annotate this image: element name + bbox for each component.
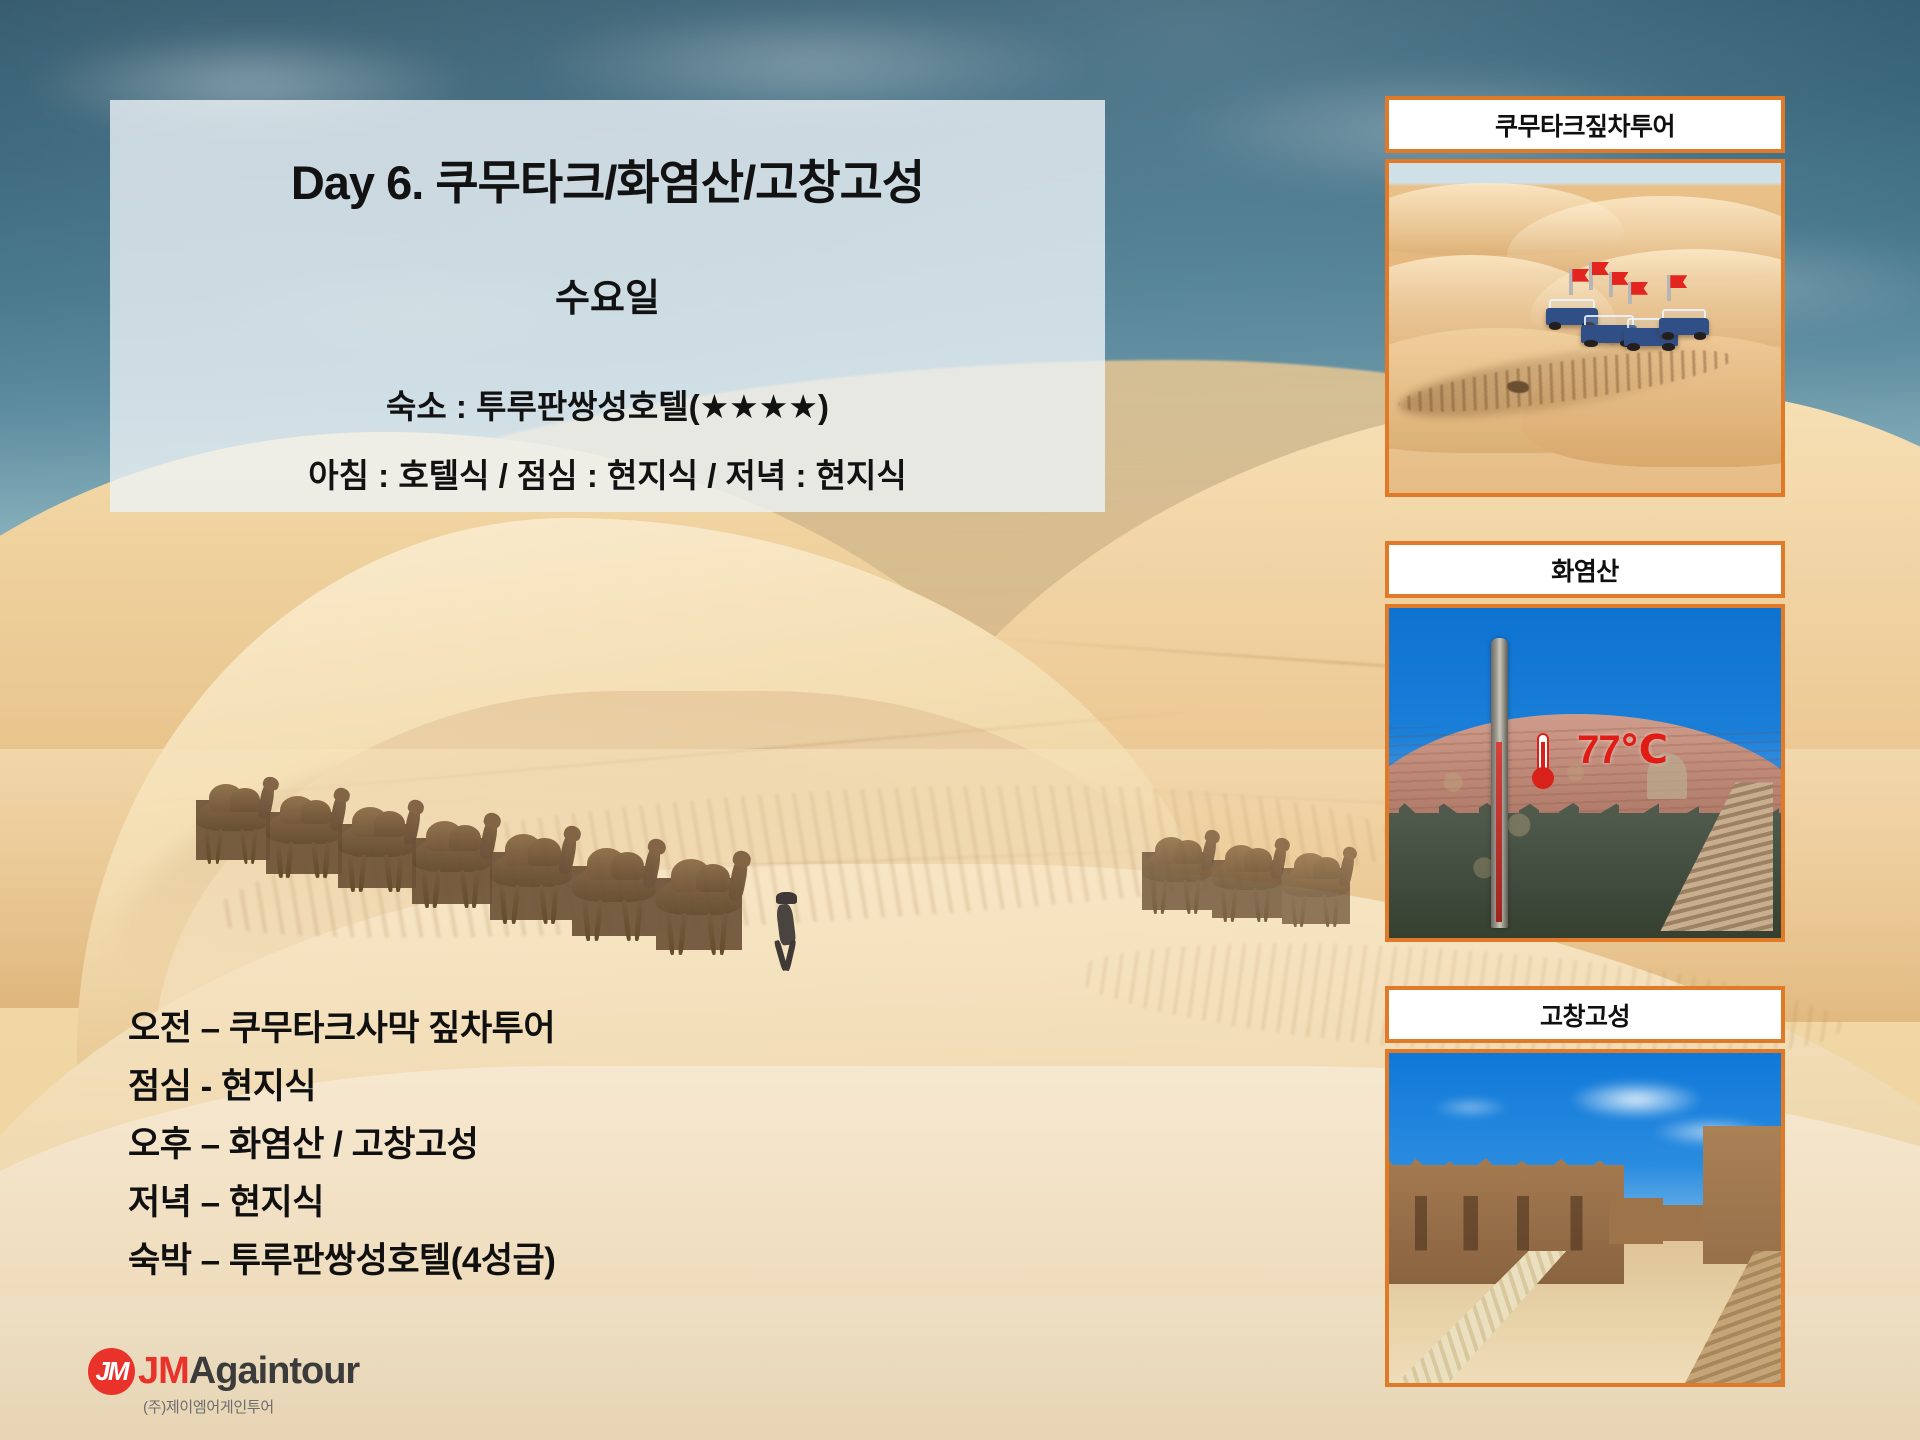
red-flag-icon bbox=[1667, 275, 1671, 301]
card-photo-flaming-mountain: 77℃ bbox=[1385, 604, 1785, 942]
mudbrick-wall bbox=[1385, 1165, 1624, 1284]
photo-card-gaochang: 고창고성 bbox=[1385, 986, 1785, 1387]
card-caption: 화염산 bbox=[1385, 541, 1785, 598]
temperature-label: 77℃ bbox=[1577, 727, 1667, 773]
list-item: 숙박 – 투루판쌍성호텔(4성급) bbox=[128, 1232, 555, 1283]
weekday-label: 수요일 bbox=[555, 267, 660, 322]
red-flag-icon bbox=[1589, 262, 1593, 290]
distant-ruin bbox=[1609, 1198, 1664, 1244]
thermometer-icon bbox=[1530, 733, 1556, 789]
mudbrick-wall-right bbox=[1703, 1126, 1785, 1265]
desert-rock bbox=[1507, 381, 1529, 393]
slide-root: Day 6. 쿠무타크/화염산/고창고성 수요일 숙소 : 투루판쌍성호텔(★★… bbox=[0, 0, 1920, 1440]
card-caption: 쿠무타크짚차투어 bbox=[1385, 96, 1785, 153]
list-item: 저녁 – 현지식 bbox=[128, 1174, 555, 1225]
red-flag-icon bbox=[1609, 272, 1613, 297]
meals-label: 아침 : 호텔식 / 점심 : 현지식 / 저녁 : 현지식 bbox=[308, 449, 906, 497]
red-flag-icon bbox=[1628, 282, 1632, 304]
red-flag-icon bbox=[1569, 269, 1573, 295]
photo-card-list: 쿠무타크짚차투어 bbox=[1385, 96, 1785, 1431]
card-caption: 고창고성 bbox=[1385, 986, 1785, 1043]
jeep-vehicle bbox=[1659, 318, 1709, 335]
itinerary-list: 오전 – 쿠무타크사막 짚차투어 점심 - 현지식 오후 – 화염산 / 고창고… bbox=[128, 1000, 555, 1283]
logo-name-red: JM bbox=[138, 1350, 189, 1393]
logo-subtitle: (주)제이엠어게인투어 bbox=[143, 1396, 359, 1417]
cloud-shape bbox=[1420, 1093, 1522, 1123]
photo-card-flaming-mountain: 화염산 77℃ bbox=[1385, 541, 1785, 942]
list-item: 오전 – 쿠무타크사막 짚차투어 bbox=[128, 1000, 555, 1051]
thermometer-monument bbox=[1491, 638, 1508, 928]
lodging-label: 숙소 : 투루판쌍성호텔(★★★★) bbox=[386, 380, 829, 428]
jm-circle-icon: JM bbox=[88, 1348, 135, 1395]
card-photo-gaochang-ruins bbox=[1385, 1049, 1785, 1387]
photo-card-kumtag: 쿠무타크짚차투어 bbox=[1385, 96, 1785, 497]
distant-ruin bbox=[1663, 1205, 1702, 1241]
header-panel: Day 6. 쿠무타크/화염산/고창고성 수요일 숙소 : 투루판쌍성호텔(★★… bbox=[110, 100, 1105, 512]
relief-carvings bbox=[1405, 687, 1625, 925]
logo-wordmark: JM JM Againtour bbox=[88, 1348, 359, 1395]
logo-name-dark: Againtour bbox=[189, 1350, 359, 1393]
card-photo-kumtag-desert bbox=[1385, 159, 1785, 497]
page-title: Day 6. 쿠무타크/화염산/고창고성 bbox=[291, 144, 924, 213]
list-item: 오후 – 화염산 / 고창고성 bbox=[128, 1116, 555, 1167]
company-logo: JM JM Againtour (주)제이엠어게인투어 bbox=[88, 1348, 359, 1417]
list-item: 점심 - 현지식 bbox=[128, 1058, 555, 1109]
